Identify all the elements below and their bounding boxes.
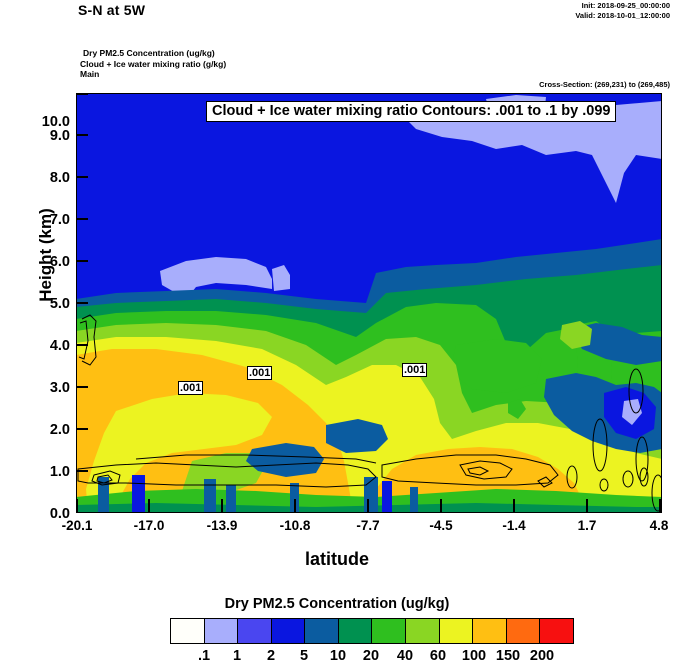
x-tick-label: -10.8 bbox=[260, 518, 330, 533]
contour-label-1: .001 bbox=[178, 381, 203, 395]
x-axis-title: latitude bbox=[0, 549, 674, 570]
colorbar-swatch-11 bbox=[540, 619, 573, 643]
domain-label: Main bbox=[80, 69, 226, 80]
x-tick-label: -13.9 bbox=[187, 518, 257, 533]
x-tick-label: -1.4 bbox=[479, 518, 549, 533]
colorbar-title: Dry PM2.5 Concentration (ug/kg) bbox=[0, 596, 674, 612]
y-tick-label: 8.0 bbox=[6, 170, 70, 186]
colorbar-swatch-0 bbox=[171, 619, 205, 643]
colorbar-swatch-10 bbox=[507, 619, 541, 643]
x-tick-label: -4.5 bbox=[406, 518, 476, 533]
x-tick-label: -20.1 bbox=[42, 518, 112, 533]
init-time: Init: 2018-09-25_00:00:00 bbox=[575, 1, 670, 11]
colorbar-swatch-8 bbox=[440, 619, 474, 643]
variable-contour-label: Cloud + Ice water mixing ratio (g/kg) bbox=[80, 59, 226, 70]
colorbar-tick-label: 200 bbox=[512, 648, 572, 664]
y-tick-label: 2.0 bbox=[6, 422, 70, 438]
x-tick-label: 1.7 bbox=[552, 518, 622, 533]
contour-label-2: .001 bbox=[247, 366, 272, 380]
page-title: S-N at 5W bbox=[78, 2, 145, 18]
y-tick-label: 1.0 bbox=[6, 464, 70, 480]
colorbar-swatch-2 bbox=[238, 619, 272, 643]
cross-section-plot: .001 .001 .001 bbox=[76, 93, 662, 513]
x-tick-label: -17.0 bbox=[114, 518, 184, 533]
variable-filled-label: Dry PM2.5 Concentration (ug/kg) bbox=[80, 48, 226, 59]
colorbar-swatch-4 bbox=[305, 619, 339, 643]
y-tick-label: 6.0 bbox=[6, 254, 70, 270]
contour-label-3: .001 bbox=[402, 363, 427, 377]
contour-banner: Cloud + Ice water mixing ratio Contours:… bbox=[206, 101, 616, 122]
colorbar-swatch-3 bbox=[272, 619, 306, 643]
y-tick-label: 4.0 bbox=[6, 338, 70, 354]
y-tick-label: 3.0 bbox=[6, 380, 70, 396]
valid-time: Valid: 2018-10-01_12:00:00 bbox=[575, 11, 670, 21]
y-tick-label: 5.0 bbox=[6, 296, 70, 312]
colorbar-swatch-9 bbox=[473, 619, 507, 643]
contour-field bbox=[76, 93, 662, 513]
colorbar-swatch-1 bbox=[205, 619, 239, 643]
y-tick-label: 7.0 bbox=[6, 212, 70, 228]
x-tick-label: -7.7 bbox=[333, 518, 403, 533]
y-tick-label: 9.0 bbox=[6, 128, 70, 144]
x-tick-label: 4.8 bbox=[624, 518, 674, 533]
colorbar-swatch-5 bbox=[339, 619, 373, 643]
colorbar-swatch-7 bbox=[406, 619, 440, 643]
variable-legend-block: Dry PM2.5 Concentration (ug/kg) Cloud + … bbox=[80, 48, 226, 80]
model-time-block: Init: 2018-09-25_00:00:00 Valid: 2018-10… bbox=[575, 1, 670, 20]
colorbar-swatch-6 bbox=[372, 619, 406, 643]
y-tick-label: 10.0 bbox=[0, 114, 70, 130]
colorbar bbox=[170, 618, 574, 644]
cross-section-coords: Cross-Section: (269,231) to (269,485) bbox=[539, 80, 670, 89]
